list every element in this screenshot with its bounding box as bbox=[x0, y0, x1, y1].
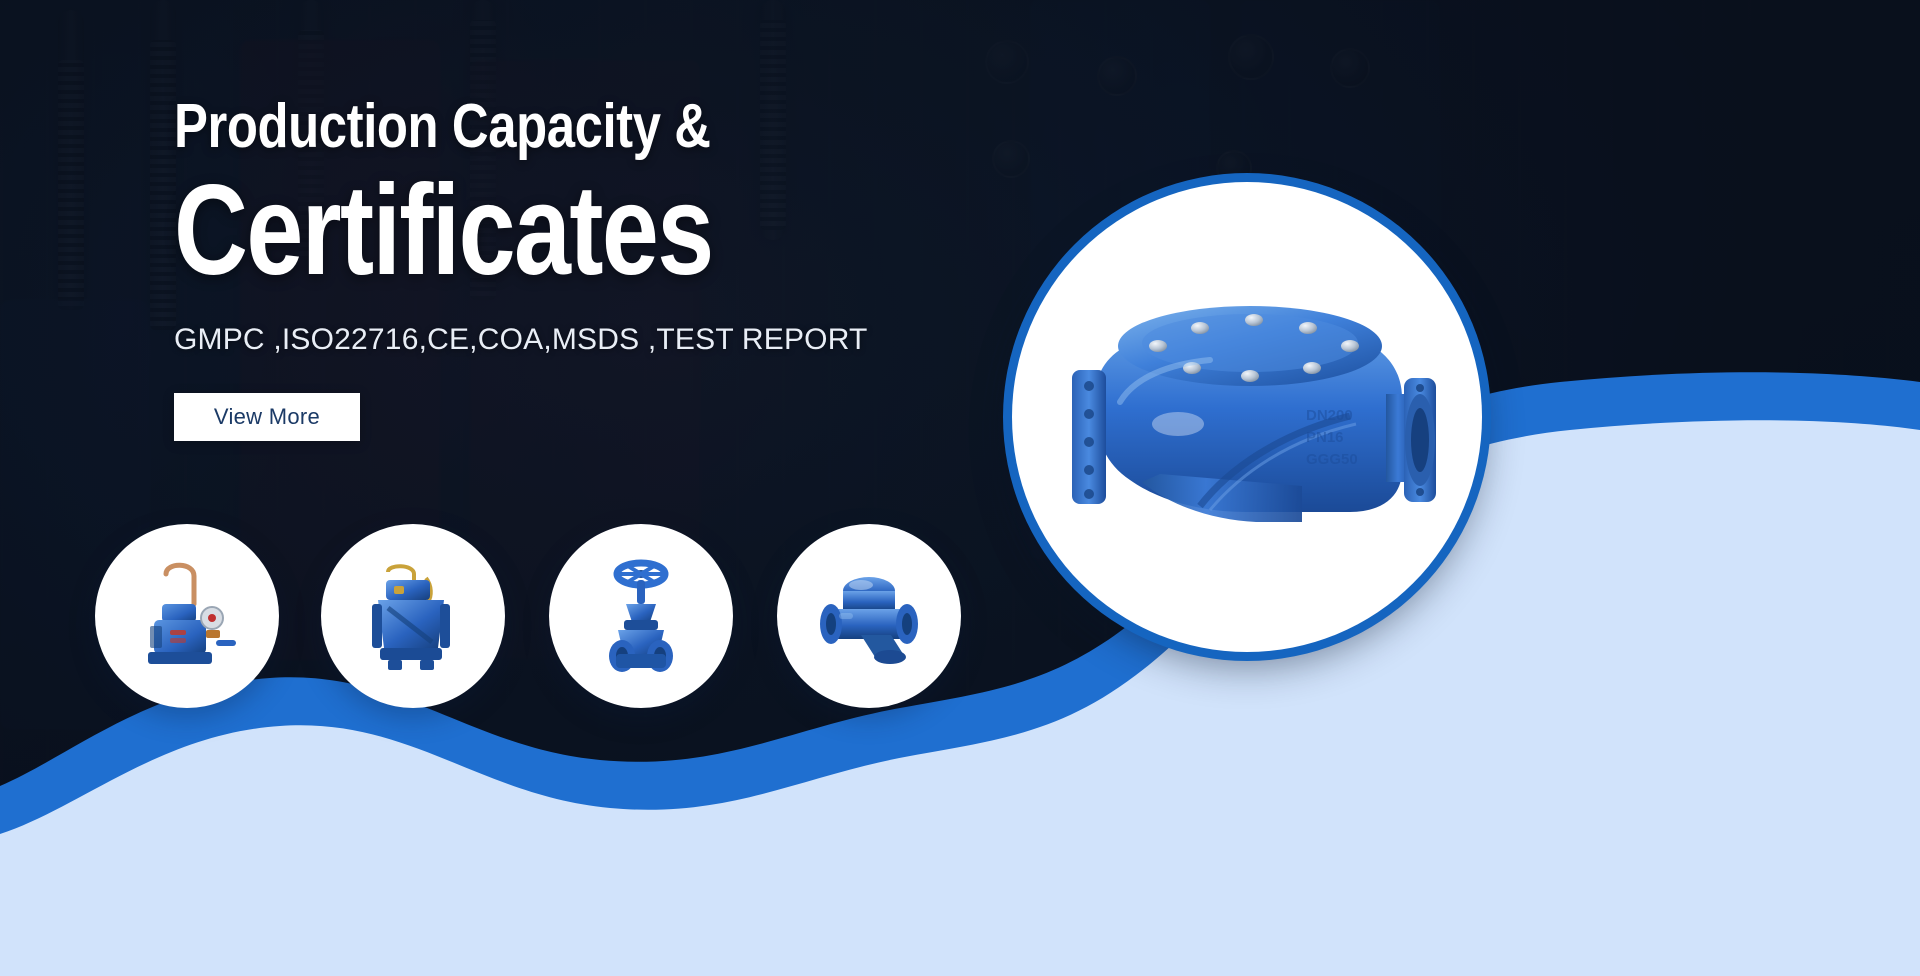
wave-decoration bbox=[0, 356, 1920, 976]
y-strainer-icon bbox=[809, 561, 929, 671]
check-valve-illustration: DN200 PN16 GGG50 bbox=[1050, 274, 1446, 564]
svg-text:PN16: PN16 bbox=[1306, 429, 1344, 446]
thumbnail-pressure-reducing-valve[interactable] bbox=[95, 524, 279, 708]
banner-copy: Production Capacity & Certificates GMPC … bbox=[174, 96, 1074, 441]
svg-text:GGG50: GGG50 bbox=[1306, 451, 1358, 468]
pressure-reducing-valve-icon bbox=[132, 556, 242, 676]
swing-check-valve-icon bbox=[358, 556, 468, 676]
hero-product-circle[interactable]: DN200 PN16 GGG50 bbox=[1012, 182, 1482, 652]
banner-subtitle: GMPC ,ISO22716,CE,COA,MSDS ,TEST REPORT bbox=[174, 323, 1074, 357]
thumbnail-gate-valve[interactable] bbox=[549, 524, 733, 708]
view-more-button[interactable]: View More bbox=[174, 393, 360, 441]
left-flange bbox=[1072, 370, 1106, 504]
svg-text:DN200: DN200 bbox=[1306, 407, 1353, 424]
headline-line-2: Certificates bbox=[174, 166, 894, 297]
gate-valve-icon bbox=[586, 556, 696, 676]
thumbnail-y-strainer[interactable] bbox=[777, 524, 961, 708]
thumbnail-swing-check-valve[interactable] bbox=[321, 524, 505, 708]
headline-line-1: Production Capacity & bbox=[174, 96, 912, 158]
promo-banner: Production Capacity & Certificates GMPC … bbox=[0, 0, 1920, 976]
